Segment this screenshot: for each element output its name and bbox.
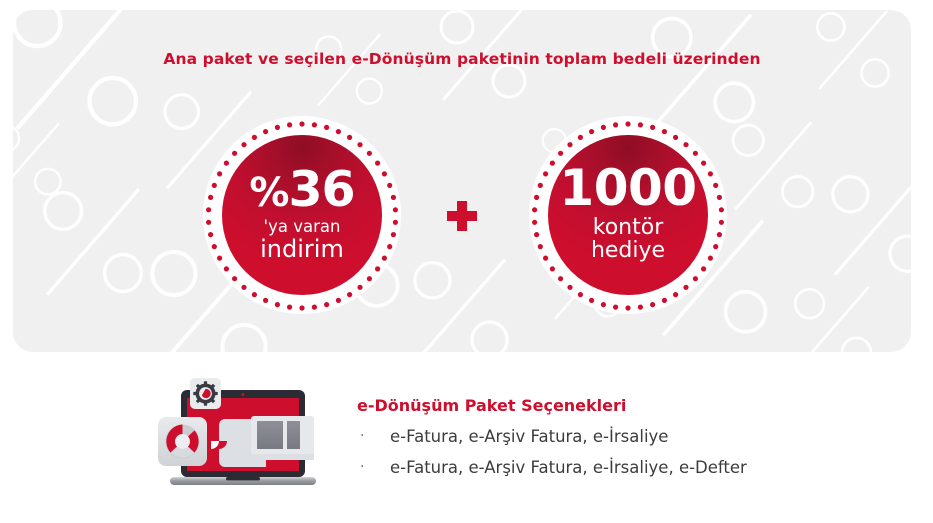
laptop-dashboard-illustration	[150, 372, 330, 507]
bonus-value: 1000	[559, 163, 696, 213]
discount-value-row: %36	[249, 165, 354, 214]
bonus-badge-core: 1000 kontör hediye	[548, 135, 708, 295]
discount-value: 36	[288, 161, 354, 218]
bullet-icon: ·	[360, 421, 364, 452]
discount-sub-line1: 'ya varan	[264, 219, 341, 236]
plus-icon	[447, 201, 477, 231]
discount-sub-line2: indirim	[260, 237, 344, 261]
discount-badge-core: %36 'ya varan indirim	[222, 135, 382, 295]
promo-screenshot: Ana paket ve seçilen e-Dönüşüm paketinin…	[0, 0, 933, 523]
bonus-badge: 1000 kontör hediye	[529, 116, 727, 314]
discount-badge: %36 'ya varan indirim	[203, 116, 401, 314]
list-item: · e-Fatura, e-Arşiv Fatura, e-İrsaliye, …	[357, 452, 877, 483]
package-options-title: e-Dönüşüm Paket Seçenekleri	[357, 396, 877, 415]
list-item-label: e-Fatura, e-Arşiv Fatura, e-İrsaliye, e-…	[390, 458, 747, 477]
bonus-sub-line1: kontör	[593, 217, 664, 239]
list-item: · e-Fatura, e-Arşiv Fatura, e-İrsaliye	[357, 421, 877, 452]
bonus-sub-line2: hediye	[591, 240, 665, 262]
promo-headline: Ana paket ve seçilen e-Dönüşüm paketinin…	[13, 50, 911, 68]
promo-panel: Ana paket ve seçilen e-Dönüşüm paketinin…	[13, 10, 911, 352]
bullet-icon: ·	[360, 452, 364, 483]
percent-sign: %	[249, 170, 288, 216]
package-options-list: · e-Fatura, e-Arşiv Fatura, e-İrsaliye ·…	[357, 421, 877, 483]
list-item-label: e-Fatura, e-Arşiv Fatura, e-İrsaliye	[390, 427, 668, 446]
package-options-block: e-Dönüşüm Paket Seçenekleri · e-Fatura, …	[357, 396, 877, 483]
